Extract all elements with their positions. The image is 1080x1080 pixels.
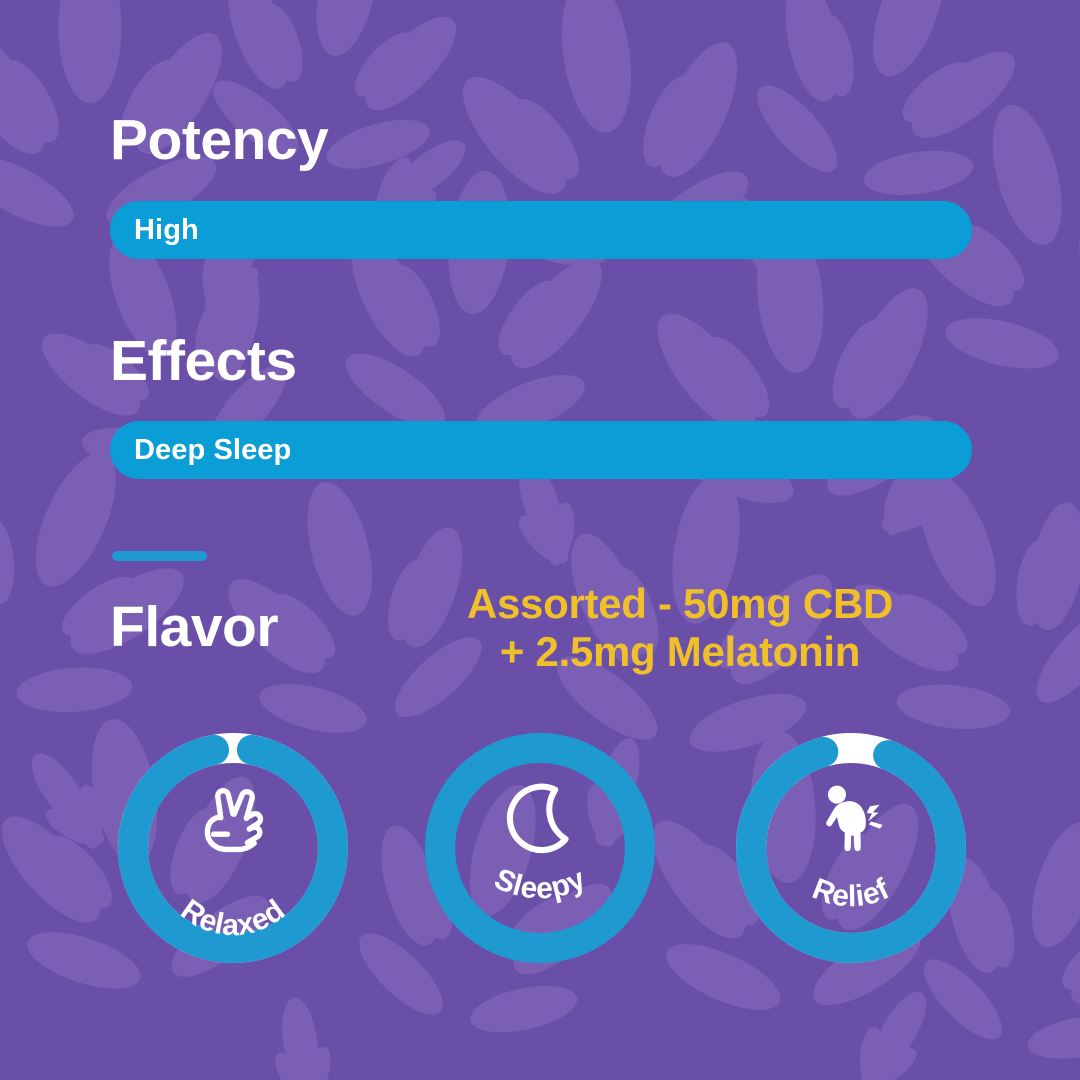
product-attributes-card: Potency High Effects Deep Sleep Flavor A… [0,0,1080,1080]
flavor-value: Assorted - 50mg CBD + 2.5mg Melatonin [380,580,980,677]
badge-label-relief: Relief [808,872,895,913]
flavor-value-line-1: Assorted - 50mg CBD [380,580,980,628]
badge-label-sleepy-text: Sleepy [490,862,591,905]
potency-heading: Potency [110,112,328,169]
badge-label-relaxed-text: Relaxed [175,893,291,942]
potency-value-label: High [110,214,199,247]
effects-heading: Effects [110,333,297,390]
effects-value-label: Deep Sleep [110,434,291,467]
badge-sleepy[interactable]: Sleepy [424,732,656,964]
potency-value-pill: High [110,201,972,259]
effect-badge-group: Relaxed [0,732,1080,982]
badge-label-relief-text: Relief [808,872,895,913]
effects-value-pill: Deep Sleep [110,421,972,479]
badge-label-sleepy: Sleepy [490,862,591,905]
badge-label-relaxed: Relaxed [175,893,291,942]
flavor-heading: Flavor [110,599,278,656]
section-divider [112,551,207,561]
flavor-value-line-2: + 2.5mg Melatonin [380,628,980,676]
badge-relaxed[interactable]: Relaxed [117,732,349,964]
badge-relief[interactable]: Relief [735,732,967,964]
